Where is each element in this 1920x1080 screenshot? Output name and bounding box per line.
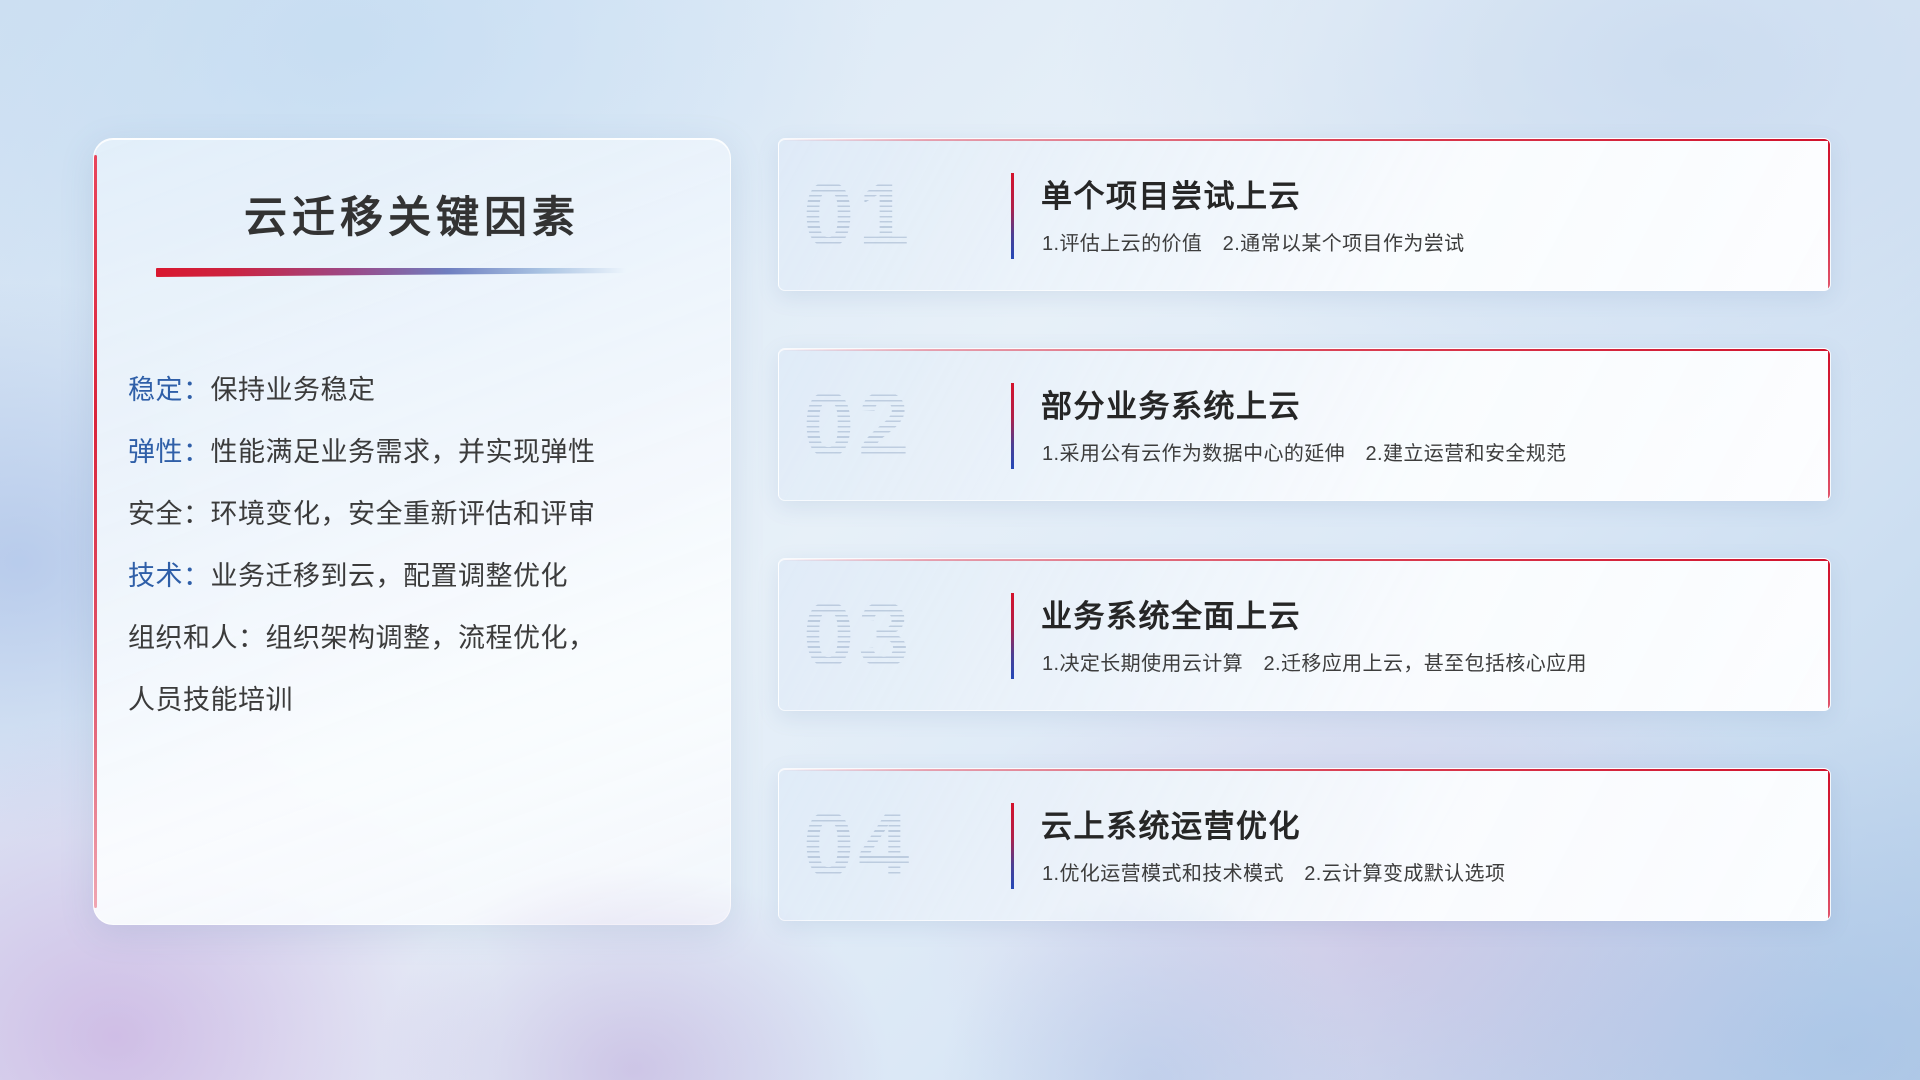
step-description: 1.决定长期使用云计算 2.迁移应用上云，甚至包括核心应用: [1042, 647, 1587, 676]
step-divider: [1011, 803, 1014, 889]
step-card-02[interactable]: 02 部分业务系统上云 1.采用公有云作为数据中心的延伸 2.建立运营和安全规范: [778, 348, 1831, 501]
step-title: 云上系统运营优化: [1041, 801, 1301, 846]
factor-text: 组织架构调整，流程优化，: [266, 623, 596, 653]
step-number-03: 03: [803, 589, 913, 681]
step-number-01: 01: [803, 169, 913, 261]
step-divider: [1011, 173, 1014, 259]
step-card-04[interactable]: 04 云上系统运营优化 1.优化运营模式和技术模式 2.云计算变成默认选项: [778, 768, 1831, 921]
factor-label: 稳定：: [128, 375, 211, 405]
page-title: 云迁移关键因素: [94, 183, 730, 245]
step-description: 1.优化运营模式和技术模式 2.云计算变成默认选项: [1042, 857, 1505, 886]
factor-text: 环境变化，安全重新评估和评审: [211, 499, 596, 529]
key-factors-list: 稳定：保持业务稳定 弹性：性能满足业务需求，并实现弹性 安全：环境变化，安全重新…: [128, 359, 706, 731]
step-title: 业务系统全面上云: [1041, 591, 1301, 636]
list-item: 人员技能培训: [128, 669, 706, 731]
step-description: 1.评估上云的价值 2.通常以某个项目作为尝试: [1042, 227, 1465, 256]
key-factors-panel: 云迁移关键因素 稳定：保持业务稳定 弹性：性能满足业务需求，并实现弹性 安全：环…: [93, 138, 731, 925]
step-description: 1.采用公有云作为数据中心的延伸 2.建立运营和安全规范: [1042, 437, 1567, 466]
step-divider: [1011, 383, 1014, 469]
factor-label: 技术：: [128, 561, 211, 591]
step-card-01[interactable]: 01 单个项目尝试上云 1.评估上云的价值 2.通常以某个项目作为尝试: [778, 138, 1831, 291]
step-title: 单个项目尝试上云: [1041, 171, 1301, 216]
factor-label: 组织和人：: [128, 623, 266, 653]
step-card-03[interactable]: 03 业务系统全面上云 1.决定长期使用云计算 2.迁移应用上云，甚至包括核心应…: [778, 558, 1831, 711]
step-title: 部分业务系统上云: [1041, 381, 1301, 426]
list-item: 技术：业务迁移到云，配置调整优化: [128, 545, 706, 607]
factor-text: 业务迁移到云，配置调整优化: [211, 561, 569, 591]
list-item: 安全：环境变化，安全重新评估和评审: [128, 483, 706, 545]
factor-text: 保持业务稳定: [211, 375, 376, 405]
factor-label: 弹性：: [128, 437, 211, 467]
title-underline-accent: [156, 268, 626, 277]
factor-text: 人员技能培训: [128, 685, 293, 715]
factor-text: 性能满足业务需求，并实现弹性: [211, 437, 596, 467]
step-divider: [1011, 593, 1014, 679]
step-number-04: 04: [803, 799, 913, 891]
list-item: 弹性：性能满足业务需求，并实现弹性: [128, 421, 706, 483]
slide-canvas: 云迁移关键因素 稳定：保持业务稳定 弹性：性能满足业务需求，并实现弹性 安全：环…: [0, 0, 1920, 1080]
list-item: 稳定：保持业务稳定: [128, 359, 706, 421]
list-item: 组织和人：组织架构调整，流程优化，: [128, 607, 706, 669]
step-number-02: 02: [803, 379, 913, 471]
factor-label: 安全：: [128, 499, 211, 529]
